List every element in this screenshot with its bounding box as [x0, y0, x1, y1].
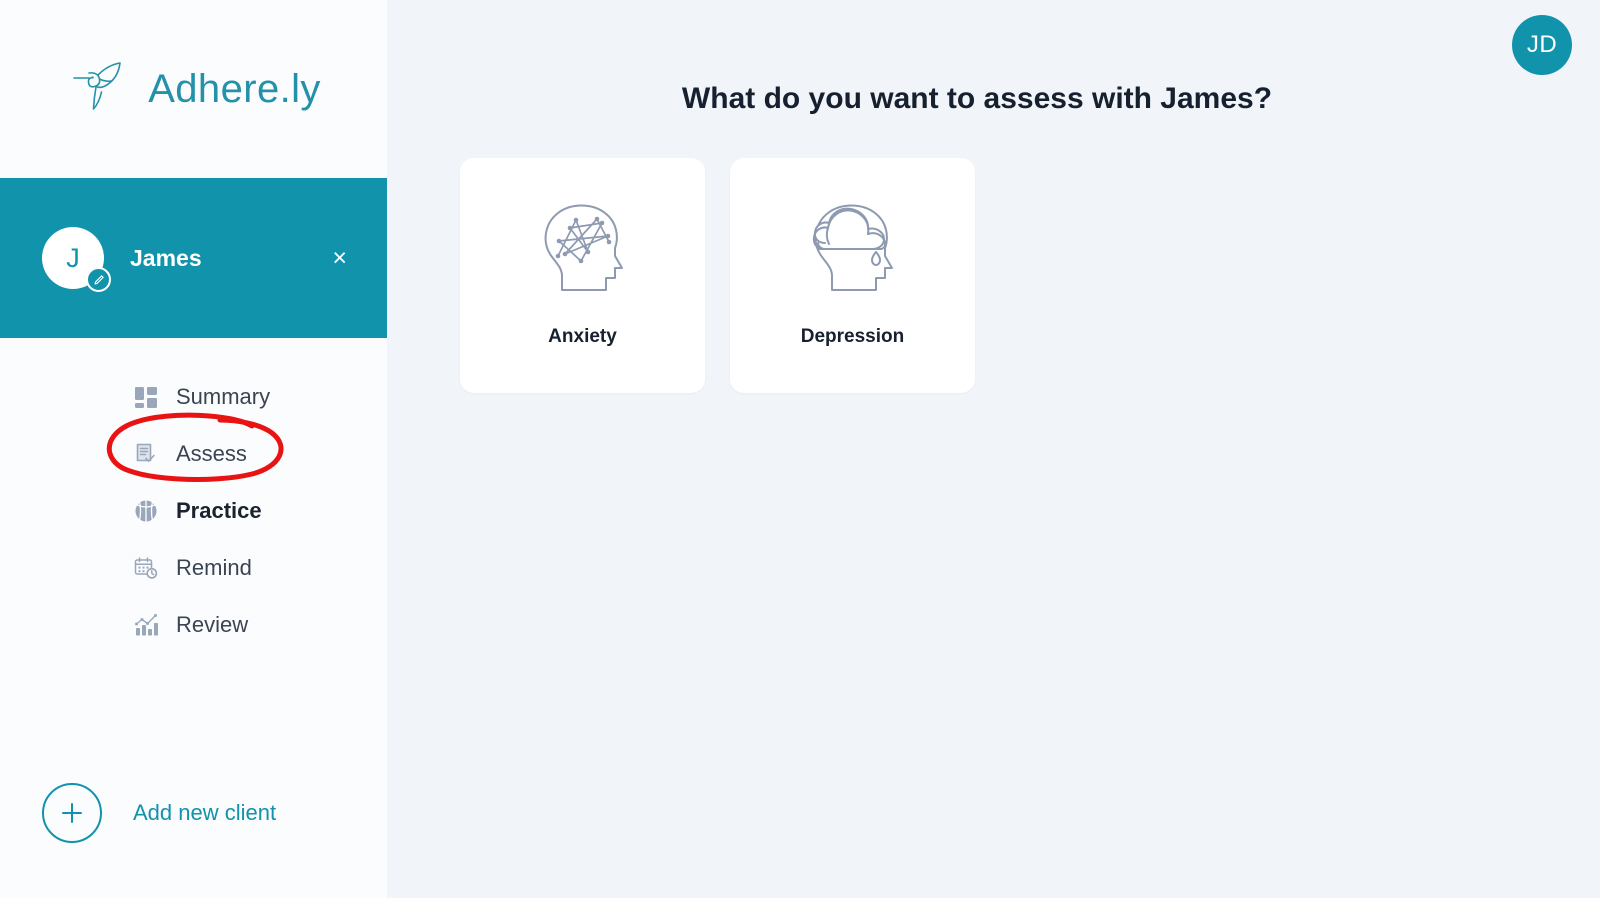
- page-title: What do you want to assess with James?: [387, 82, 1567, 116]
- sidebar-item-remind[interactable]: Remind: [0, 539, 387, 596]
- user-avatar[interactable]: JD: [1512, 15, 1572, 75]
- dashboard-grid-icon: [132, 383, 159, 410]
- add-new-client-button[interactable]: Add new client: [0, 783, 387, 898]
- sidebar-item-label: Remind: [176, 555, 252, 581]
- sidebar-nav: Summary Assess: [0, 338, 387, 783]
- calendar-clock-icon: [132, 554, 159, 581]
- app-root: Adhere.ly J James ×: [0, 0, 1600, 898]
- clipboard-check-icon: [132, 440, 159, 467]
- head-tangled-thoughts-icon: [527, 192, 639, 304]
- sidebar-item-review[interactable]: Review: [0, 596, 387, 653]
- brand-name: Adhere.ly: [148, 67, 321, 112]
- sidebar-item-practice[interactable]: Practice: [0, 482, 387, 539]
- sidebar-item-label: Assess: [176, 441, 247, 467]
- assessment-card-anxiety[interactable]: Anxiety: [460, 158, 705, 393]
- hummingbird-icon: [72, 62, 134, 116]
- bar-chart-trend-icon: [132, 611, 159, 638]
- sidebar-item-assess[interactable]: Assess: [0, 425, 387, 482]
- sidebar-item-summary[interactable]: Summary: [0, 368, 387, 425]
- topbar: JD: [387, 0, 1600, 86]
- assessment-card-label: Depression: [801, 326, 904, 348]
- assessment-card-depression[interactable]: Depression: [730, 158, 975, 393]
- brand-logo[interactable]: Adhere.ly: [0, 0, 387, 178]
- plus-icon: [42, 783, 102, 843]
- pencil-icon[interactable]: [86, 267, 111, 292]
- sidebar-item-label: Review: [176, 612, 248, 638]
- close-icon[interactable]: ×: [322, 236, 367, 281]
- client-avatar[interactable]: J: [42, 227, 104, 289]
- add-new-client-label: Add new client: [133, 800, 276, 826]
- sidebar-item-label: Practice: [176, 498, 262, 524]
- sidebar-item-label: Summary: [176, 384, 270, 410]
- head-rain-cloud-icon: [797, 192, 909, 304]
- sidebar: Adhere.ly J James ×: [0, 0, 387, 898]
- main-content: JD What do you want to assess with James…: [387, 0, 1600, 898]
- client-row-james[interactable]: J James ×: [0, 178, 387, 338]
- assessment-card-list: Anxiety Depression: [460, 158, 975, 393]
- ball-icon: [132, 497, 159, 524]
- assessment-card-label: Anxiety: [548, 326, 617, 348]
- client-name: James: [130, 245, 322, 272]
